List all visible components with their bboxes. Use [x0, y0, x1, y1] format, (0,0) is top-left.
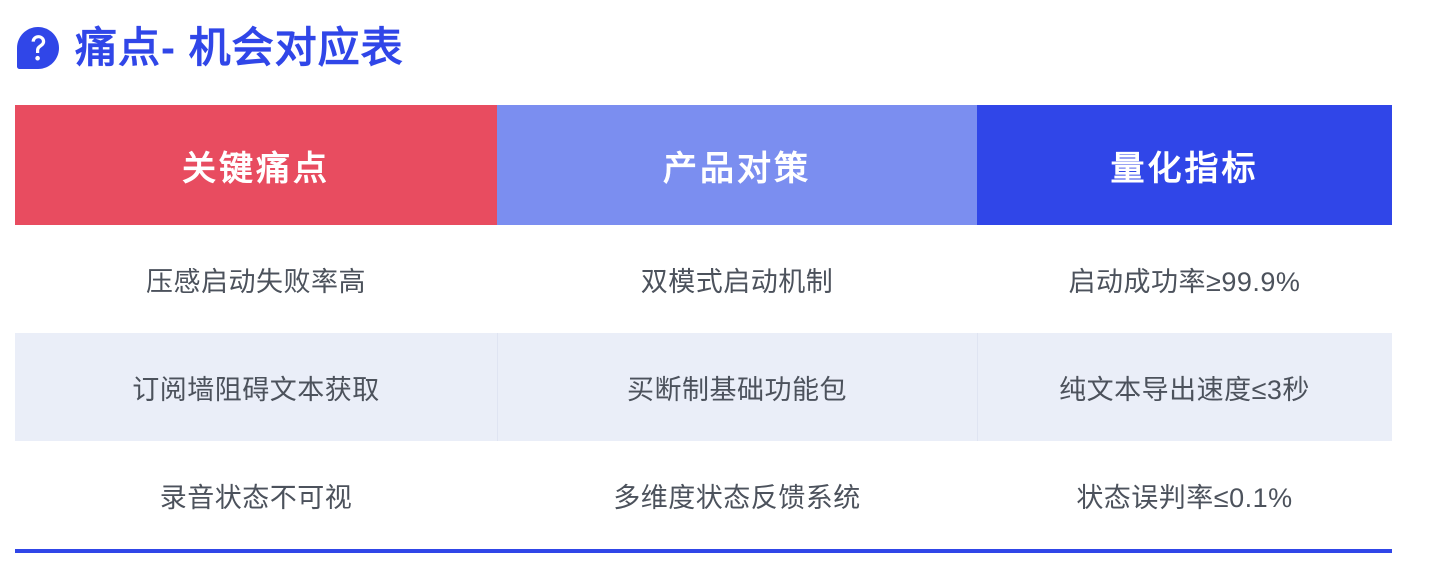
cell-metric: 启动成功率≥99.9%: [977, 225, 1392, 333]
page-title: 痛点- 机会对应表: [15, 16, 404, 80]
pain-opportunity-table: 关键痛点 产品对策 量化指标 压感启动失败率高 双模式启动机制 启动成功率≥99…: [15, 105, 1392, 553]
cell-metric: 状态误判率≤0.1%: [977, 441, 1392, 551]
cell-product: 多维度状态反馈系统: [497, 441, 977, 551]
page-title-text: 痛点- 机会对应表: [75, 27, 404, 69]
table-header-row: 关键痛点 产品对策 量化指标: [15, 105, 1392, 225]
cell-product: 买断制基础功能包: [497, 333, 977, 441]
question-bubble-icon: [15, 25, 61, 71]
cell-pain: 订阅墙阻碍文本获取: [15, 333, 497, 441]
column-header-product: 产品对策: [497, 105, 977, 225]
cell-pain: 录音状态不可视: [15, 441, 497, 551]
table-row: 压感启动失败率高 双模式启动机制 启动成功率≥99.9%: [15, 225, 1392, 333]
cell-pain: 压感启动失败率高: [15, 225, 497, 333]
column-header-pain: 关键痛点: [15, 105, 497, 225]
cell-metric: 纯文本导出速度≤3秒: [977, 333, 1392, 441]
table-row: 录音状态不可视 多维度状态反馈系统 状态误判率≤0.1%: [15, 441, 1392, 551]
table-row: 订阅墙阻碍文本获取 买断制基础功能包 纯文本导出速度≤3秒: [15, 333, 1392, 441]
column-header-metric: 量化指标: [977, 105, 1392, 225]
slide-root: 痛点- 机会对应表 关键痛点 产品对策 量化指标 压感启动失败率高 双模式启动机…: [0, 0, 1434, 573]
cell-product: 双模式启动机制: [497, 225, 977, 333]
